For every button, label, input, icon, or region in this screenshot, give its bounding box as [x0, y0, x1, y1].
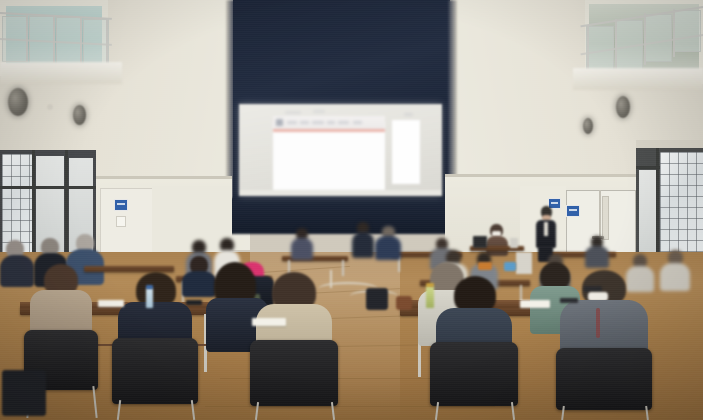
window-mullion [656, 146, 659, 258]
standing-presenter [534, 206, 558, 260]
projected-app-accent-bar [273, 129, 385, 132]
orange-object [478, 262, 492, 270]
notice-left-wall [116, 216, 126, 227]
audience-member [352, 222, 374, 256]
wall-speaker-icon [73, 105, 86, 125]
projection-screen [239, 104, 442, 196]
glass-block-window-left [2, 154, 32, 252]
chair-foreground [250, 340, 338, 406]
window-transom [0, 186, 96, 189]
projected-toolbar-item [327, 121, 335, 124]
door-vision-panel [602, 196, 609, 240]
projected-toolbar-item [353, 121, 362, 124]
audience-member [291, 228, 313, 258]
paper-handout [520, 300, 550, 308]
audience-member [375, 226, 401, 258]
chair-foreground [112, 338, 198, 404]
balcony-left-slab [0, 62, 122, 84]
photo-scene [0, 0, 703, 420]
window-pane-right [639, 170, 657, 256]
projected-title-text [313, 110, 325, 113]
water-bottle [146, 288, 153, 308]
presenter-shirt [544, 222, 548, 236]
paper-handout [98, 300, 124, 307]
projected-side-pane [392, 120, 420, 184]
chair-foreground [556, 348, 652, 410]
sign-right-wall [566, 205, 580, 217]
wall-speaker-icon [616, 96, 630, 118]
projected-side-pane-label [404, 113, 413, 116]
water-bottle [426, 286, 434, 308]
window-head-trim [636, 140, 703, 148]
projected-app-window [273, 122, 385, 190]
bottle-cap [146, 285, 153, 289]
wall-vent-icon [47, 104, 53, 110]
wall-speaker-icon [8, 88, 28, 116]
operator-equipment [510, 238, 518, 248]
projection-screen-content [239, 104, 442, 196]
sign-left-wall [114, 199, 128, 211]
chair-foreground [430, 342, 518, 406]
projected-toolbar-item [300, 121, 309, 124]
paper-handout [252, 318, 286, 326]
projected-title-text [285, 111, 301, 114]
screen-bottom-lip [239, 190, 442, 196]
balcony-rail-left [0, 4, 112, 70]
operator-laptop [473, 236, 487, 248]
window-transom [636, 166, 660, 169]
projected-toolbar-item [312, 121, 324, 124]
glass-block-window-right [660, 152, 703, 258]
audience-member [585, 236, 609, 266]
bag [2, 370, 46, 416]
bottle-cap [426, 283, 434, 287]
balcony-right-slab [573, 68, 703, 90]
bag [396, 296, 412, 310]
projected-app-logo [276, 119, 283, 126]
projected-toolbar-item [287, 121, 297, 124]
bag [366, 288, 388, 310]
balcony-rail-right [579, 2, 703, 78]
audience-member [660, 250, 690, 290]
projected-toolbar-item [338, 121, 349, 124]
smartphone [186, 300, 202, 305]
blue-object [504, 262, 516, 271]
wall-speaker-icon [583, 118, 593, 134]
audience-member [0, 240, 34, 286]
backdrop-lower-drape [228, 198, 454, 234]
jacket-stripe [596, 308, 600, 338]
smartphone [560, 298, 578, 303]
